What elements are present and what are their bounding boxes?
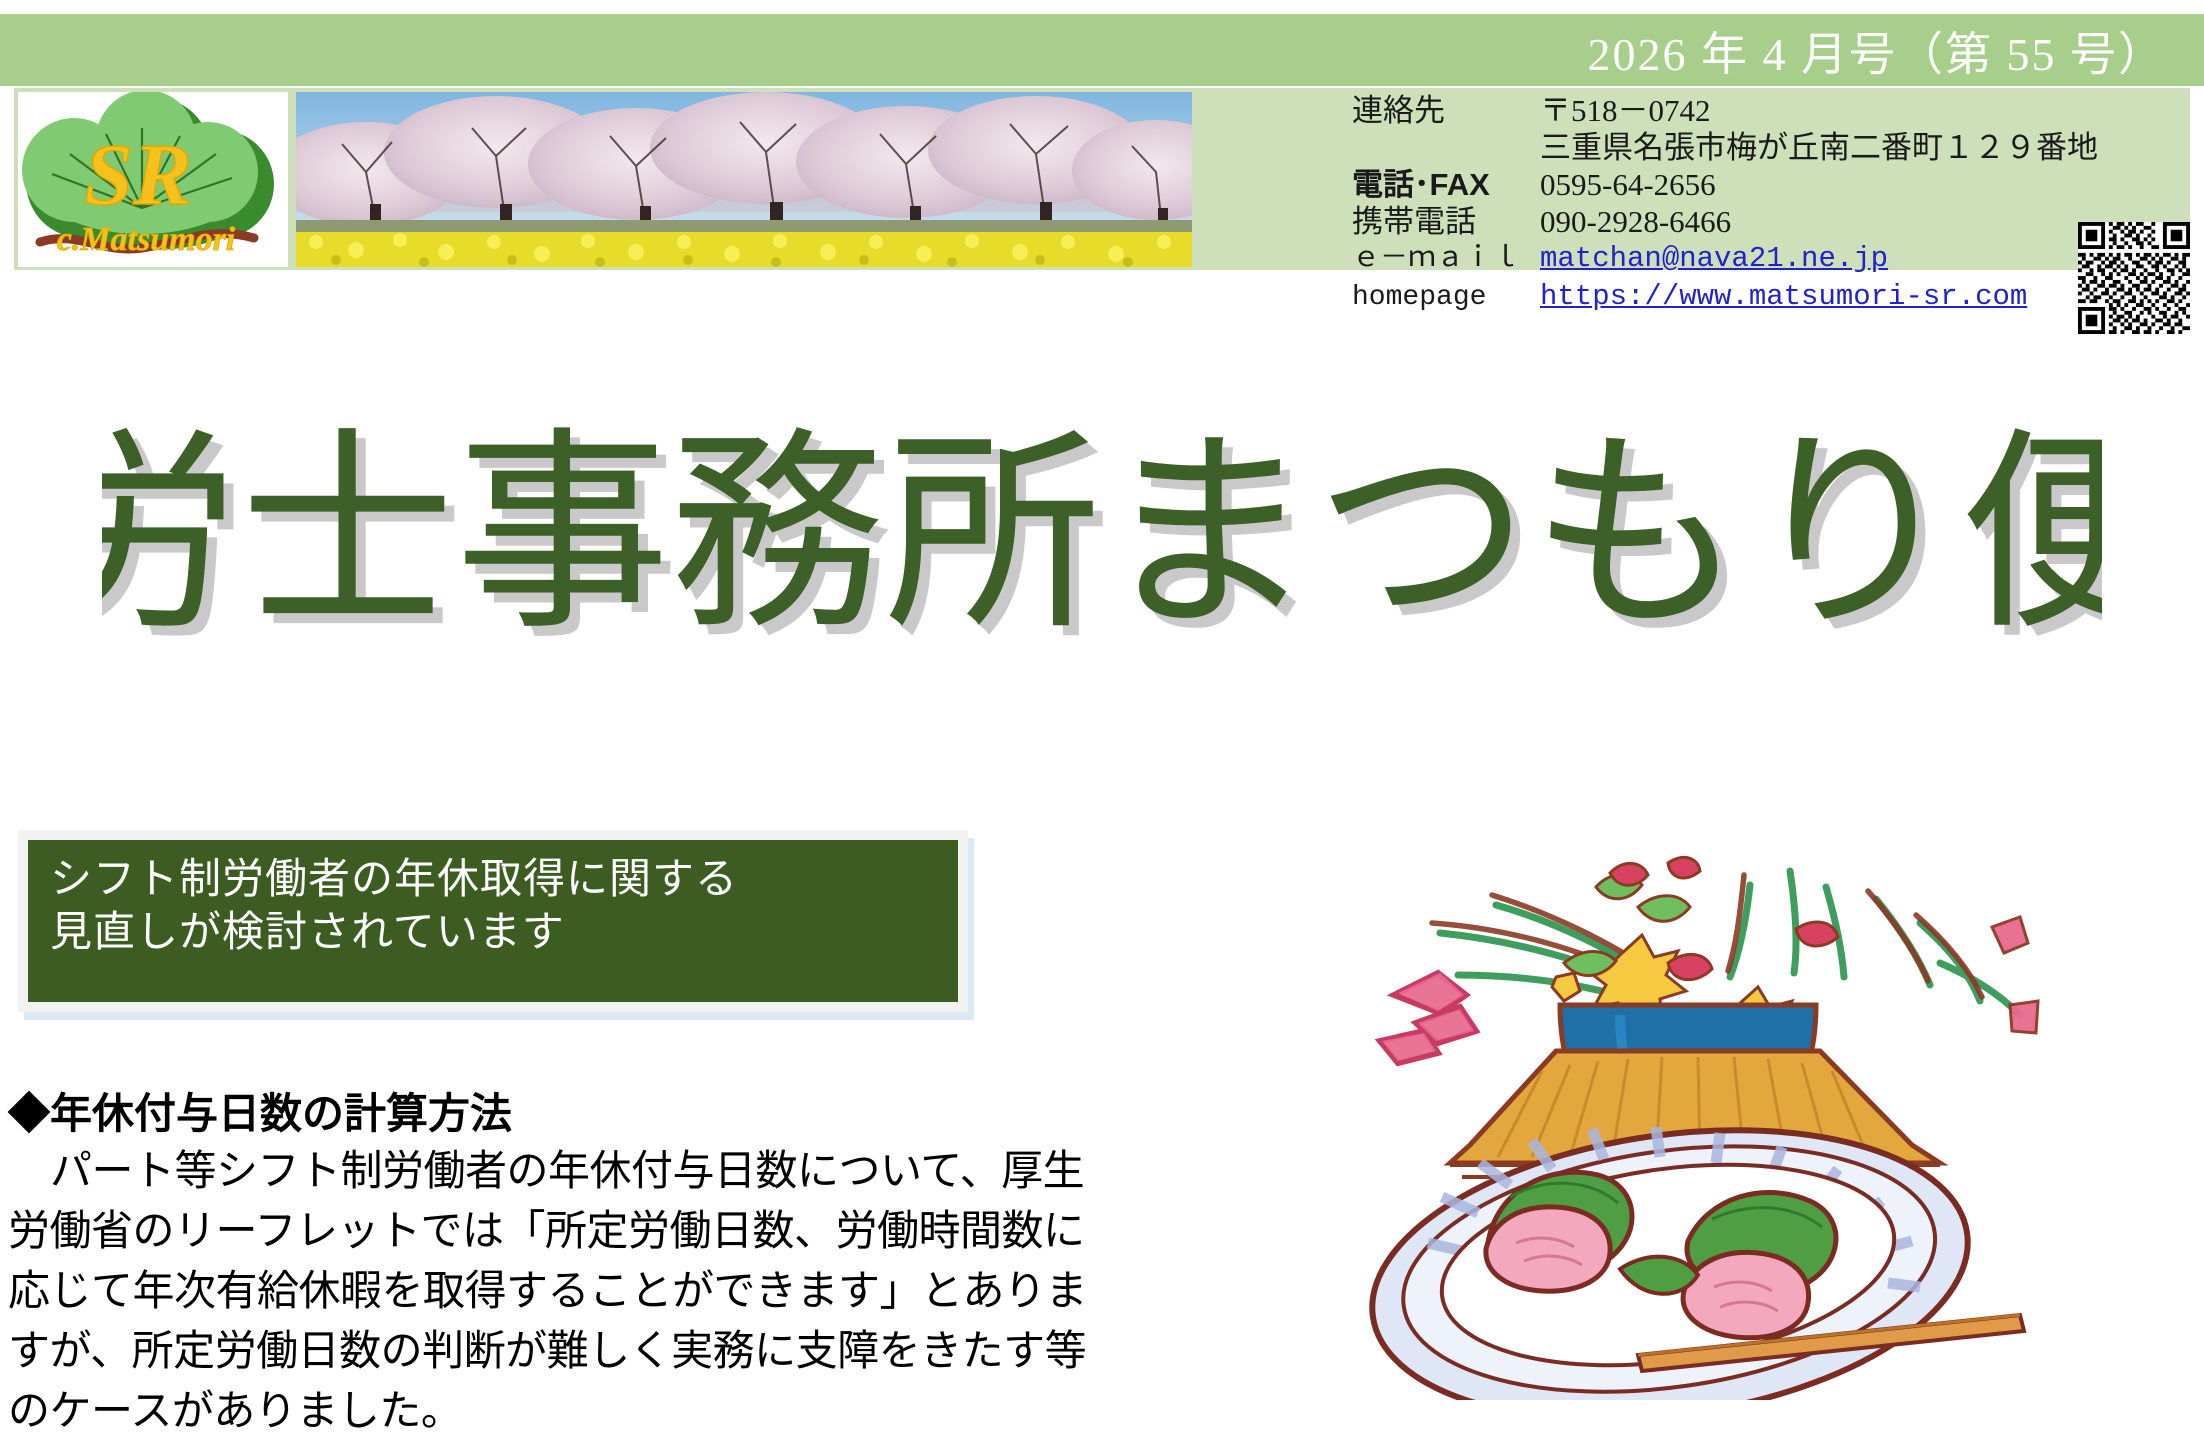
logo: SR c.Matsumori [18,92,288,267]
logo-sr-text: SR [84,127,192,224]
contact-label: 連絡先 [1352,92,1540,129]
contact-block: 連絡先 〒518－0742 三重県名張市梅が丘南二番町１２９番地 電話･FAX … [1352,92,2052,316]
email-label: ｅ－ｍａｉｌ [1352,241,1540,278]
sakuramochi-illustration [1320,845,2040,1400]
qr-code-icon [2078,222,2190,334]
headline-line-1: シフト制労働者の年休取得に関する [50,854,958,907]
homepage-link[interactable]: https://www.matsumori-sr.com [1540,278,2027,315]
telfax-value: 0595-64-2656 [1540,166,1716,203]
mobile-value: 090-2928-6466 [1540,203,1731,240]
qr-code[interactable] [2078,222,2190,334]
email-link[interactable]: matchan@nava21.ne.jp [1540,240,1888,277]
headline-banner: シフト制労働者の年休取得に関する 見直しが検討されています [28,840,958,1002]
logo-icon: SR c.Matsumori [18,92,288,267]
page-title: 社労士事務所まつもり便り 社労士事務所まつもり便り [0,410,2204,740]
contact-postal-row: 連絡先 〒518－0742 [1352,92,2052,129]
article-body: パート等シフト制労働者の年休付与日数について、厚生労働省のリーフレットでは「所定… [8,1142,1118,1442]
contact-telfax-row: 電話･FAX 0595-64-2656 [1352,166,2052,203]
issue-label: 2026 年 4 月号（第 55 号） [1588,18,2167,84]
contact-email-row: ｅ－ｍａｉｌ matchan@nava21.ne.jp [1352,240,2052,278]
mobile-label: 携帯電話 [1352,203,1540,240]
logo-name-text: c.Matsumori [57,221,236,258]
homepage-label: homepage [1352,279,1540,316]
contact-address: 三重県名張市梅が丘南二番町１２９番地 [1540,130,2098,165]
article-heading: ◆年休付与日数の計算方法 [8,1088,1118,1140]
article: ◆年休付与日数の計算方法 パート等シフト制労働者の年休付与日数について、厚生労働… [8,1088,1118,1442]
contact-postal-code: 〒518－0742 [1540,92,1711,129]
sakuramochi-icon [1320,845,2040,1400]
headline-line-2: 見直しが検討されています [50,907,958,960]
contact-address-row: 三重県名張市梅が丘南二番町１２９番地 [1352,129,2052,166]
telfax-label: 電話･FAX [1352,166,1540,203]
contact-mobile-row: 携帯電話 090-2928-6466 [1352,203,2052,240]
contact-homepage-row: homepage https://www.matsumori-sr.com [1352,278,2052,316]
page-title-text: 社労士事務所まつもり便り [102,416,2102,655]
cherry-blossom-photo [296,92,1192,267]
